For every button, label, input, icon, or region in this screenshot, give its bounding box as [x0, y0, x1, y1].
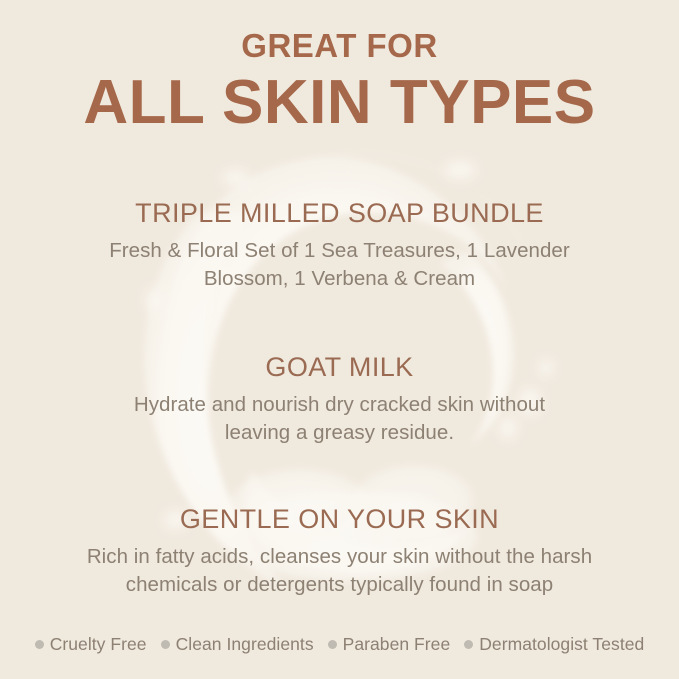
bullet-dot-icon	[464, 640, 473, 649]
section-body: Rich in fatty acids, cleanses your skin …	[0, 543, 679, 599]
page-title: ALL SKIN TYPES	[0, 68, 679, 138]
bullet-dot-icon	[328, 640, 337, 649]
feature-section-goat-milk: GOAT MILK Hydrate and nourish dry cracke…	[0, 350, 679, 447]
claim-badge-label: Dermatologist Tested	[479, 633, 644, 655]
section-body-line: chemicals or detergents typically found …	[0, 571, 679, 599]
claim-badge: Dermatologist Tested	[457, 633, 651, 655]
claim-badge: Cruelty Free	[28, 633, 154, 655]
section-body-line: Hydrate and nourish dry cracked skin wit…	[0, 391, 679, 419]
feature-section-soap-bundle: TRIPLE MILLED SOAP BUNDLE Fresh & Floral…	[0, 196, 679, 293]
poster-header: GREAT FOR ALL SKIN TYPES	[0, 26, 679, 138]
claim-badge-label: Clean Ingredients	[176, 633, 314, 655]
section-body: Fresh & Floral Set of 1 Sea Treasures, 1…	[0, 237, 679, 293]
section-heading: TRIPLE MILLED SOAP BUNDLE	[0, 196, 679, 230]
claim-badge: Clean Ingredients	[154, 633, 321, 655]
section-body-line: leaving a greasy residue.	[0, 419, 679, 447]
section-body-line: Blossom, 1 Verbena & Cream	[0, 265, 679, 293]
bullet-dot-icon	[161, 640, 170, 649]
poster-content: GREAT FOR ALL SKIN TYPES TRIPLE MILLED S…	[0, 0, 679, 679]
section-body-line: Rich in fatty acids, cleanses your skin …	[0, 543, 679, 571]
section-body-line: Fresh & Floral Set of 1 Sea Treasures, 1…	[0, 237, 679, 265]
section-heading: GENTLE ON YOUR SKIN	[0, 502, 679, 536]
bullet-dot-icon	[35, 640, 44, 649]
claim-badge-label: Cruelty Free	[50, 633, 147, 655]
header-eyebrow: GREAT FOR	[0, 26, 679, 66]
section-body: Hydrate and nourish dry cracked skin wit…	[0, 391, 679, 447]
section-heading: GOAT MILK	[0, 350, 679, 384]
claim-badge-label: Paraben Free	[343, 633, 451, 655]
feature-section-gentle-on-skin: GENTLE ON YOUR SKIN Rich in fatty acids,…	[0, 502, 679, 599]
claim-badge: Paraben Free	[321, 633, 458, 655]
product-feature-poster: GREAT FOR ALL SKIN TYPES TRIPLE MILLED S…	[0, 0, 679, 679]
claims-badge-row: Cruelty Free Clean Ingredients Paraben F…	[0, 633, 679, 655]
